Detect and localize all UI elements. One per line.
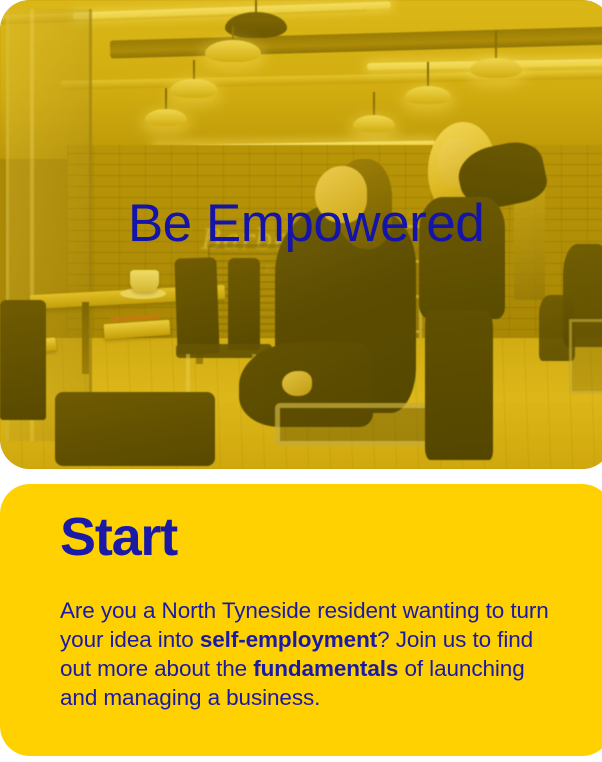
salon-chair [0,300,46,420]
pendant-lamp-icon [145,88,187,126]
emphasis-text: self-employment [200,627,377,652]
pendant-lamp-icon [205,26,261,62]
pendant-lamp-icon [405,62,451,104]
promo-card-page: BarberSHOP [0,0,602,762]
pendant-lamp-icon [353,92,395,132]
styling-station [569,319,602,394]
table-leg [82,302,89,374]
stylist-legs [425,310,492,460]
coffee-cup [130,270,159,292]
salon-chair [55,392,215,466]
section-body-text: Are you a North Tyneside resident wantin… [60,596,550,712]
hero-title: Be Empowered [0,193,602,255]
info-card: Start Are you a North Tyneside resident … [0,484,602,756]
salon-chair [174,257,219,354]
client-hand [282,371,313,397]
section-heading: Start [60,508,177,566]
salon-chair-armrest [275,403,434,445]
salon-chair [228,258,260,350]
hero-image-card: BarberSHOP [0,0,602,469]
pendant-lamp-icon [470,30,522,78]
emphasis-text: fundamentals [253,656,398,681]
